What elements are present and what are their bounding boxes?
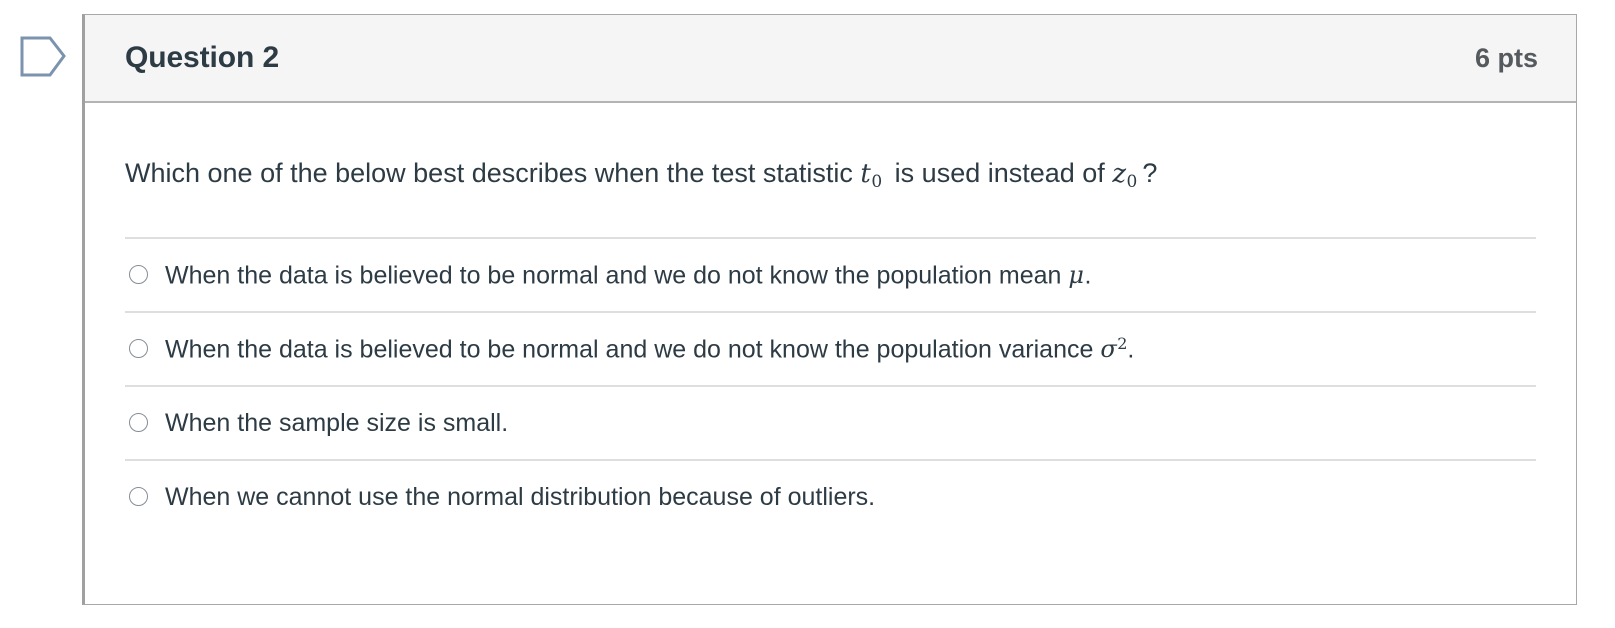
radio-button-3[interactable] (129, 413, 148, 432)
math-z-zero: z0 (1112, 159, 1137, 189)
math-mu-symbol: μ (1068, 261, 1084, 289)
math-t-symbol: t (860, 159, 870, 189)
question-body: Which one of the below best describes wh… (85, 103, 1576, 533)
radio-button-2[interactable] (129, 339, 148, 358)
answer-option-3[interactable]: When the sample size is small. (125, 385, 1536, 459)
answer-label-1: When the data is believed to be normal a… (165, 260, 1091, 290)
answer-label-4: When we cannot use the normal distributi… (165, 482, 875, 512)
math-mu: μ (1068, 261, 1084, 289)
math-t-subscript: 0 (871, 172, 882, 192)
prompt-text-middle: is used instead of (887, 158, 1112, 188)
answer-label-3: When the sample size is small. (165, 408, 508, 438)
answer-option-4[interactable]: When we cannot use the normal distributi… (125, 459, 1536, 533)
prompt-text-after: ? (1142, 158, 1157, 188)
answer-2-text-before: When the data is believed to be normal a… (165, 335, 1100, 363)
question-header: Question 2 6 pts (85, 15, 1576, 103)
answer-1-text-before: When the data is believed to be normal a… (165, 261, 1068, 289)
question-prompt: Which one of the below best describes wh… (85, 103, 1576, 194)
answer-option-2[interactable]: When the data is believed to be normal a… (125, 311, 1536, 385)
radio-button-4[interactable] (129, 487, 148, 506)
question-container: Question 2 6 pts Which one of the below … (82, 14, 1577, 605)
math-sigma-squared: σ2 (1100, 335, 1127, 363)
question-title: Question 2 (125, 41, 279, 75)
answer-label-2: When the data is believed to be normal a… (165, 334, 1134, 364)
math-z-subscript: 0 (1126, 172, 1137, 192)
flag-outline-icon[interactable] (20, 36, 66, 78)
prompt-text-before: Which one of the below best describes wh… (125, 158, 860, 188)
answer-options-list: When the data is believed to be normal a… (85, 237, 1576, 533)
math-t-zero: t0 (860, 159, 882, 189)
answer-1-text-after: . (1084, 261, 1091, 289)
math-sigma-symbol: σ (1100, 335, 1116, 363)
radio-button-1[interactable] (129, 265, 148, 284)
answer-option-1[interactable]: When the data is believed to be normal a… (125, 237, 1536, 311)
answer-2-text-after: . (1127, 335, 1134, 363)
question-points-badge: 6 pts (1475, 43, 1538, 74)
math-sigma-superscript: 2 (1117, 334, 1128, 353)
math-z-symbol: z (1112, 159, 1126, 189)
quiz-question-page: Question 2 6 pts Which one of the below … (0, 0, 1615, 628)
